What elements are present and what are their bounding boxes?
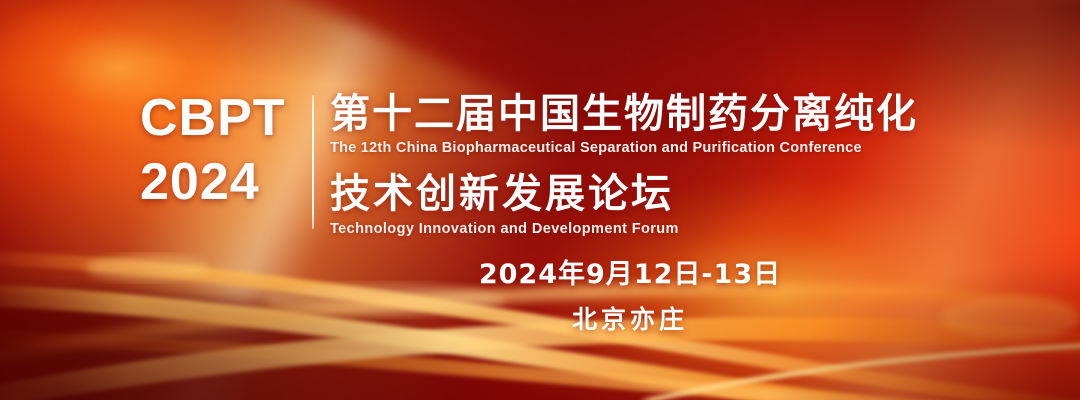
conference-title-en: The 12th China Biopharmaceutical Separat… bbox=[330, 140, 918, 156]
conference-title-cn: 第十二届中国生物制药分离纯化 bbox=[330, 92, 918, 137]
vertical-divider bbox=[312, 95, 314, 229]
title-block: 第十二届中国生物制药分离纯化 The 12th China Biopharmac… bbox=[330, 92, 918, 237]
forum-title-cn: 技术创新发展论坛 bbox=[330, 172, 918, 217]
banner-content: CBPT 2024 第十二届中国生物制药分离纯化 The 12th China … bbox=[0, 0, 1080, 400]
event-meta-block: 2024年9月12日-13日 北京亦庄 bbox=[330, 252, 930, 336]
event-date: 2024年9月12日-13日 bbox=[330, 252, 930, 291]
conference-banner: CBPT 2024 第十二届中国生物制药分离纯化 The 12th China … bbox=[0, 0, 1080, 400]
forum-title-en: Technology Innovation and Development Fo… bbox=[330, 221, 918, 237]
logo-block: CBPT 2024 bbox=[140, 92, 300, 208]
logo-acronym: CBPT bbox=[140, 92, 300, 144]
logo-year: 2024 bbox=[140, 156, 300, 208]
event-venue: 北京亦庄 bbox=[330, 300, 930, 336]
